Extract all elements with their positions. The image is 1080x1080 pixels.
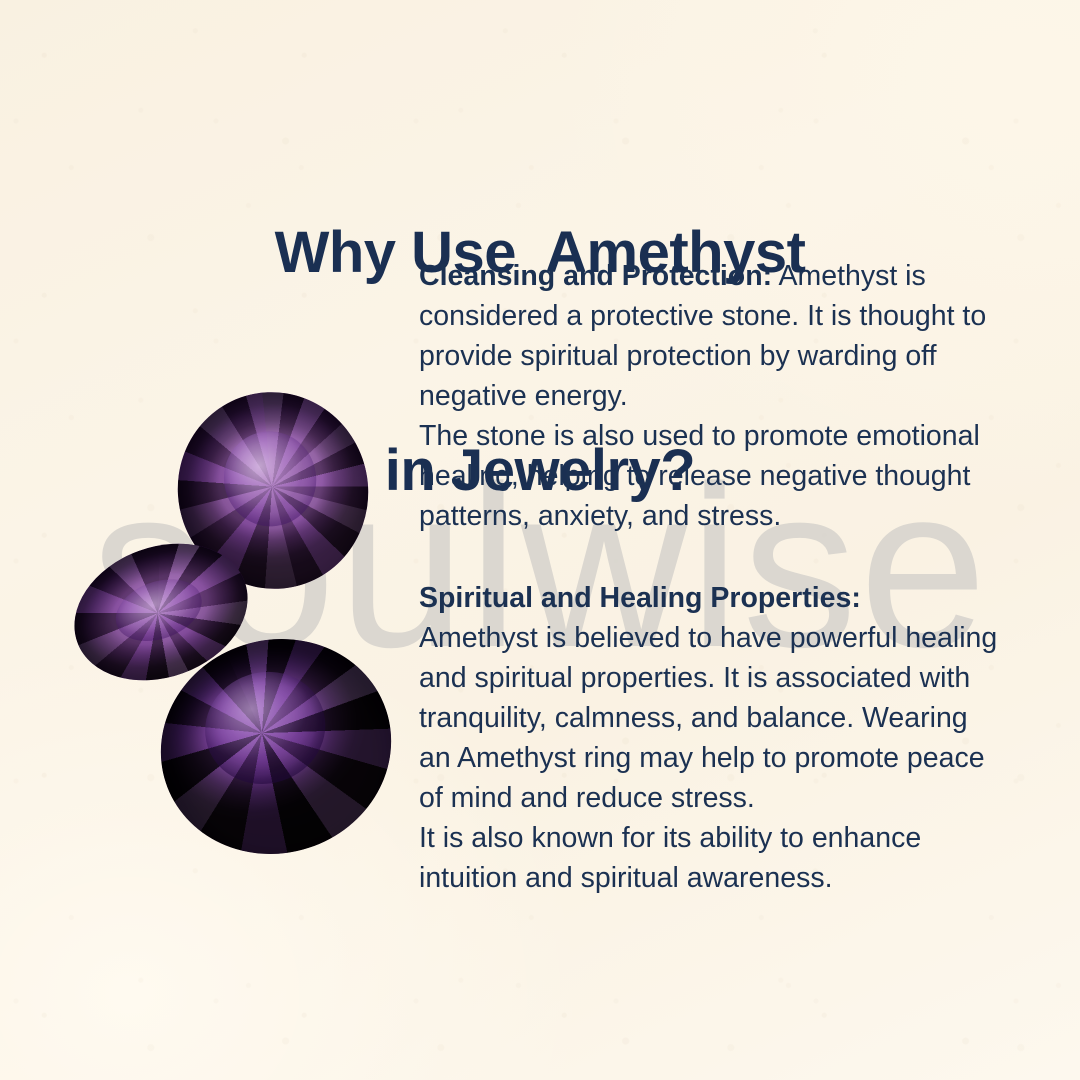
paragraph-spiritual-and-healing-properties: Spiritual and Healing Properties:Amethys…: [419, 578, 999, 898]
paragraph-lead-label: Cleansing and Protection:: [419, 260, 772, 292]
paragraph-lead-label: Spiritual and Healing Properties:: [419, 582, 861, 614]
paragraph-body-text: Amethyst is considered a protective ston…: [419, 260, 986, 532]
paragraph-cleansing-and-protection: Cleansing and Protection: Amethyst is co…: [419, 256, 999, 536]
poster-canvas: soulwise Why Use Amethyst in Jewelry? Cl…: [0, 0, 1080, 1080]
paragraph-body-text: Amethyst is believed to have powerful he…: [419, 622, 997, 894]
body-content: Cleansing and Protection: Amethyst is co…: [419, 256, 999, 898]
